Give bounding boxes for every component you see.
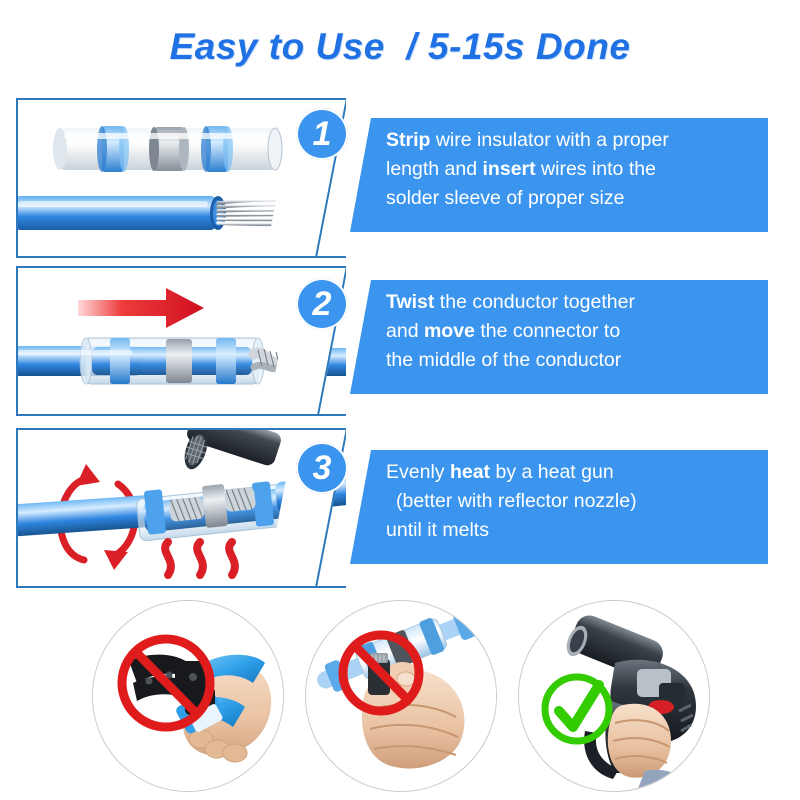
- step-3-line1-start: Evenly: [386, 461, 450, 483]
- step-1-text-banner: Strip wire insulator with a proper lengt…: [350, 118, 768, 232]
- step-2-text: Twist the conductor together and move th…: [386, 288, 758, 375]
- step-1-line2-start: length and: [386, 158, 483, 180]
- step-row-1: Strip wire insulator with a proper lengt…: [0, 98, 800, 258]
- step-1-illustration-box: [16, 98, 346, 258]
- step-2-line2-start: and: [386, 320, 424, 342]
- page-title: Easy to Use / 5-15s Done: [0, 26, 800, 68]
- solder-sleeve-graphic: [53, 126, 282, 172]
- lighter-not-allowed: [305, 600, 497, 792]
- step-1-line3: solder sleeve of proper size: [386, 187, 624, 209]
- crimping-pliers-not-allowed: [92, 600, 284, 792]
- step-3-line3: until it melts: [386, 519, 489, 541]
- step-number-badge-2: 2: [296, 278, 348, 330]
- instruction-infographic: Easy to Use / 5-15s Done: [0, 0, 800, 800]
- heat-gun-nozzle-graphic: [180, 430, 283, 472]
- step-row-3: Evenly heat by a heat gun (better with r…: [0, 428, 800, 588]
- rotation-arrow-head-top: [76, 464, 100, 486]
- step-2-line2-rest: the connector to: [475, 320, 620, 342]
- red-right-arrow-icon: [78, 288, 204, 328]
- step-1-text: Strip wire insulator with a proper lengt…: [386, 126, 758, 213]
- step-3-line2: (better with reflector nozzle): [396, 490, 637, 512]
- step-number-badge-3: 3: [296, 442, 348, 494]
- red-heat-wave-icons: [165, 542, 235, 575]
- step-2-illustration-box: [16, 266, 346, 416]
- step-row-2: Twist the conductor together and move th…: [0, 266, 800, 416]
- step-1-line2-rest: wires into the: [536, 158, 656, 180]
- step-3-line1-rest: by a heat gun: [490, 461, 614, 483]
- step-2-keyword-move: move: [424, 320, 475, 342]
- step-3-illustration-box: [16, 428, 346, 588]
- step-3-text-banner: Evenly heat by a heat gun (better with r…: [350, 450, 768, 564]
- rotation-arrow-head-bottom: [104, 550, 128, 570]
- step-2-line1-rest: the conductor together: [434, 291, 635, 313]
- usage-do-and-dont-row: [0, 600, 800, 796]
- step-2-keyword-twist: Twist: [386, 291, 434, 313]
- step-2-line3: the middle of the conductor: [386, 349, 621, 371]
- step-number-badge-1: 1: [296, 108, 348, 160]
- step-1-keyword-insert: insert: [483, 158, 536, 180]
- step-3-text: Evenly heat by a heat gun (better with r…: [386, 458, 758, 545]
- step-1-keyword-strip: Strip: [386, 129, 430, 151]
- step-1-line1-rest: wire insulator with a proper: [430, 129, 668, 151]
- step-3-keyword-heat: heat: [450, 461, 490, 483]
- heat-gun-recommended: [518, 600, 710, 792]
- step-2-text-banner: Twist the conductor together and move th…: [350, 280, 768, 394]
